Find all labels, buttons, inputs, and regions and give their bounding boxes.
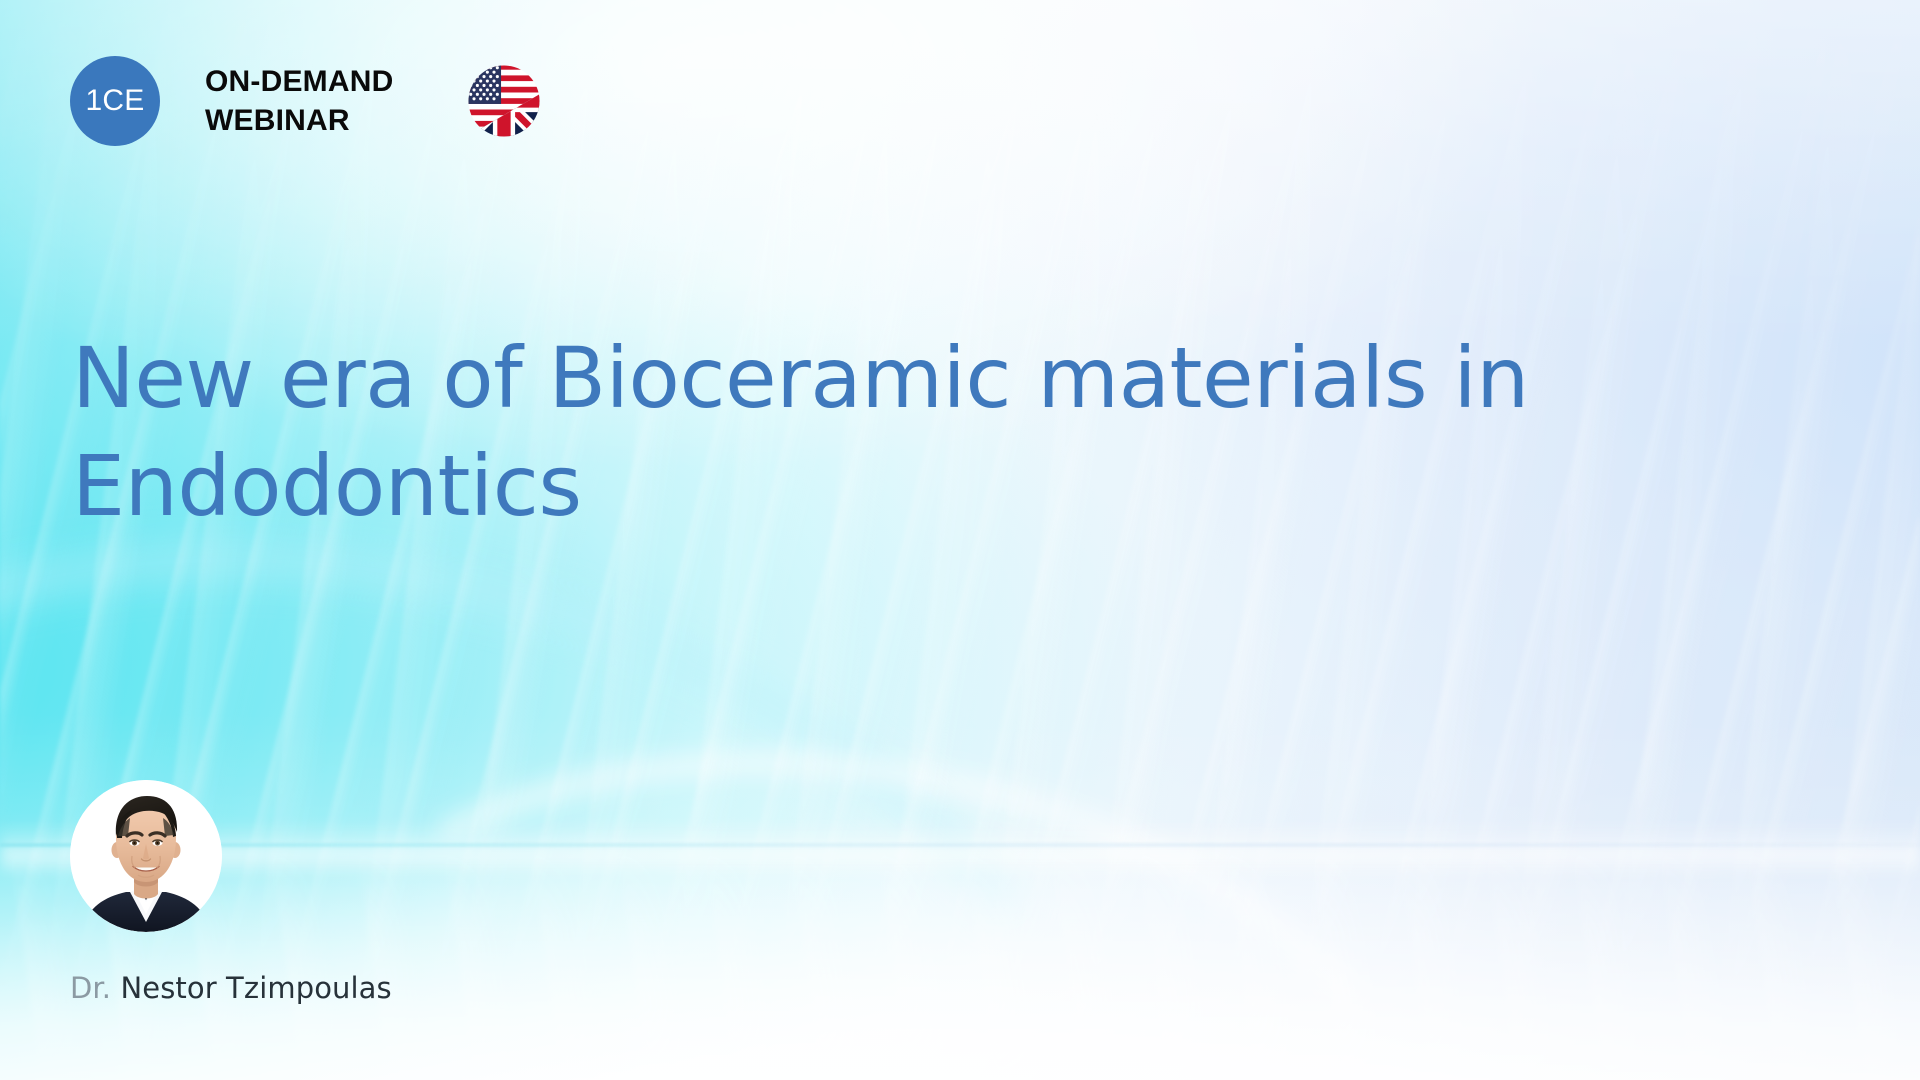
- background-swoosh-arc-1: [0, 181, 1920, 1080]
- webinar-promo-slide: 1CE ON-DEMAND WEBINAR: [0, 0, 1920, 1080]
- page-title: New era of Bioceramic materials in Endod…: [72, 324, 1772, 540]
- us-uk-flag-icon: [467, 64, 541, 138]
- speaker-name-prefix: Dr.: [70, 971, 111, 1005]
- header-row: 1CE ON-DEMAND WEBINAR: [70, 56, 541, 146]
- speaker-name-full: Nestor Tzimpoulas: [120, 971, 391, 1005]
- webinar-type-label: ON-DEMAND WEBINAR: [205, 62, 393, 140]
- speaker-name: Dr. Nestor Tzimpoulas: [70, 970, 392, 1006]
- ce-credits-badge: 1CE: [70, 56, 160, 146]
- ce-credits-label: 1CE: [86, 86, 145, 116]
- avatar: [70, 780, 222, 932]
- background-horizon-line: [0, 843, 1920, 847]
